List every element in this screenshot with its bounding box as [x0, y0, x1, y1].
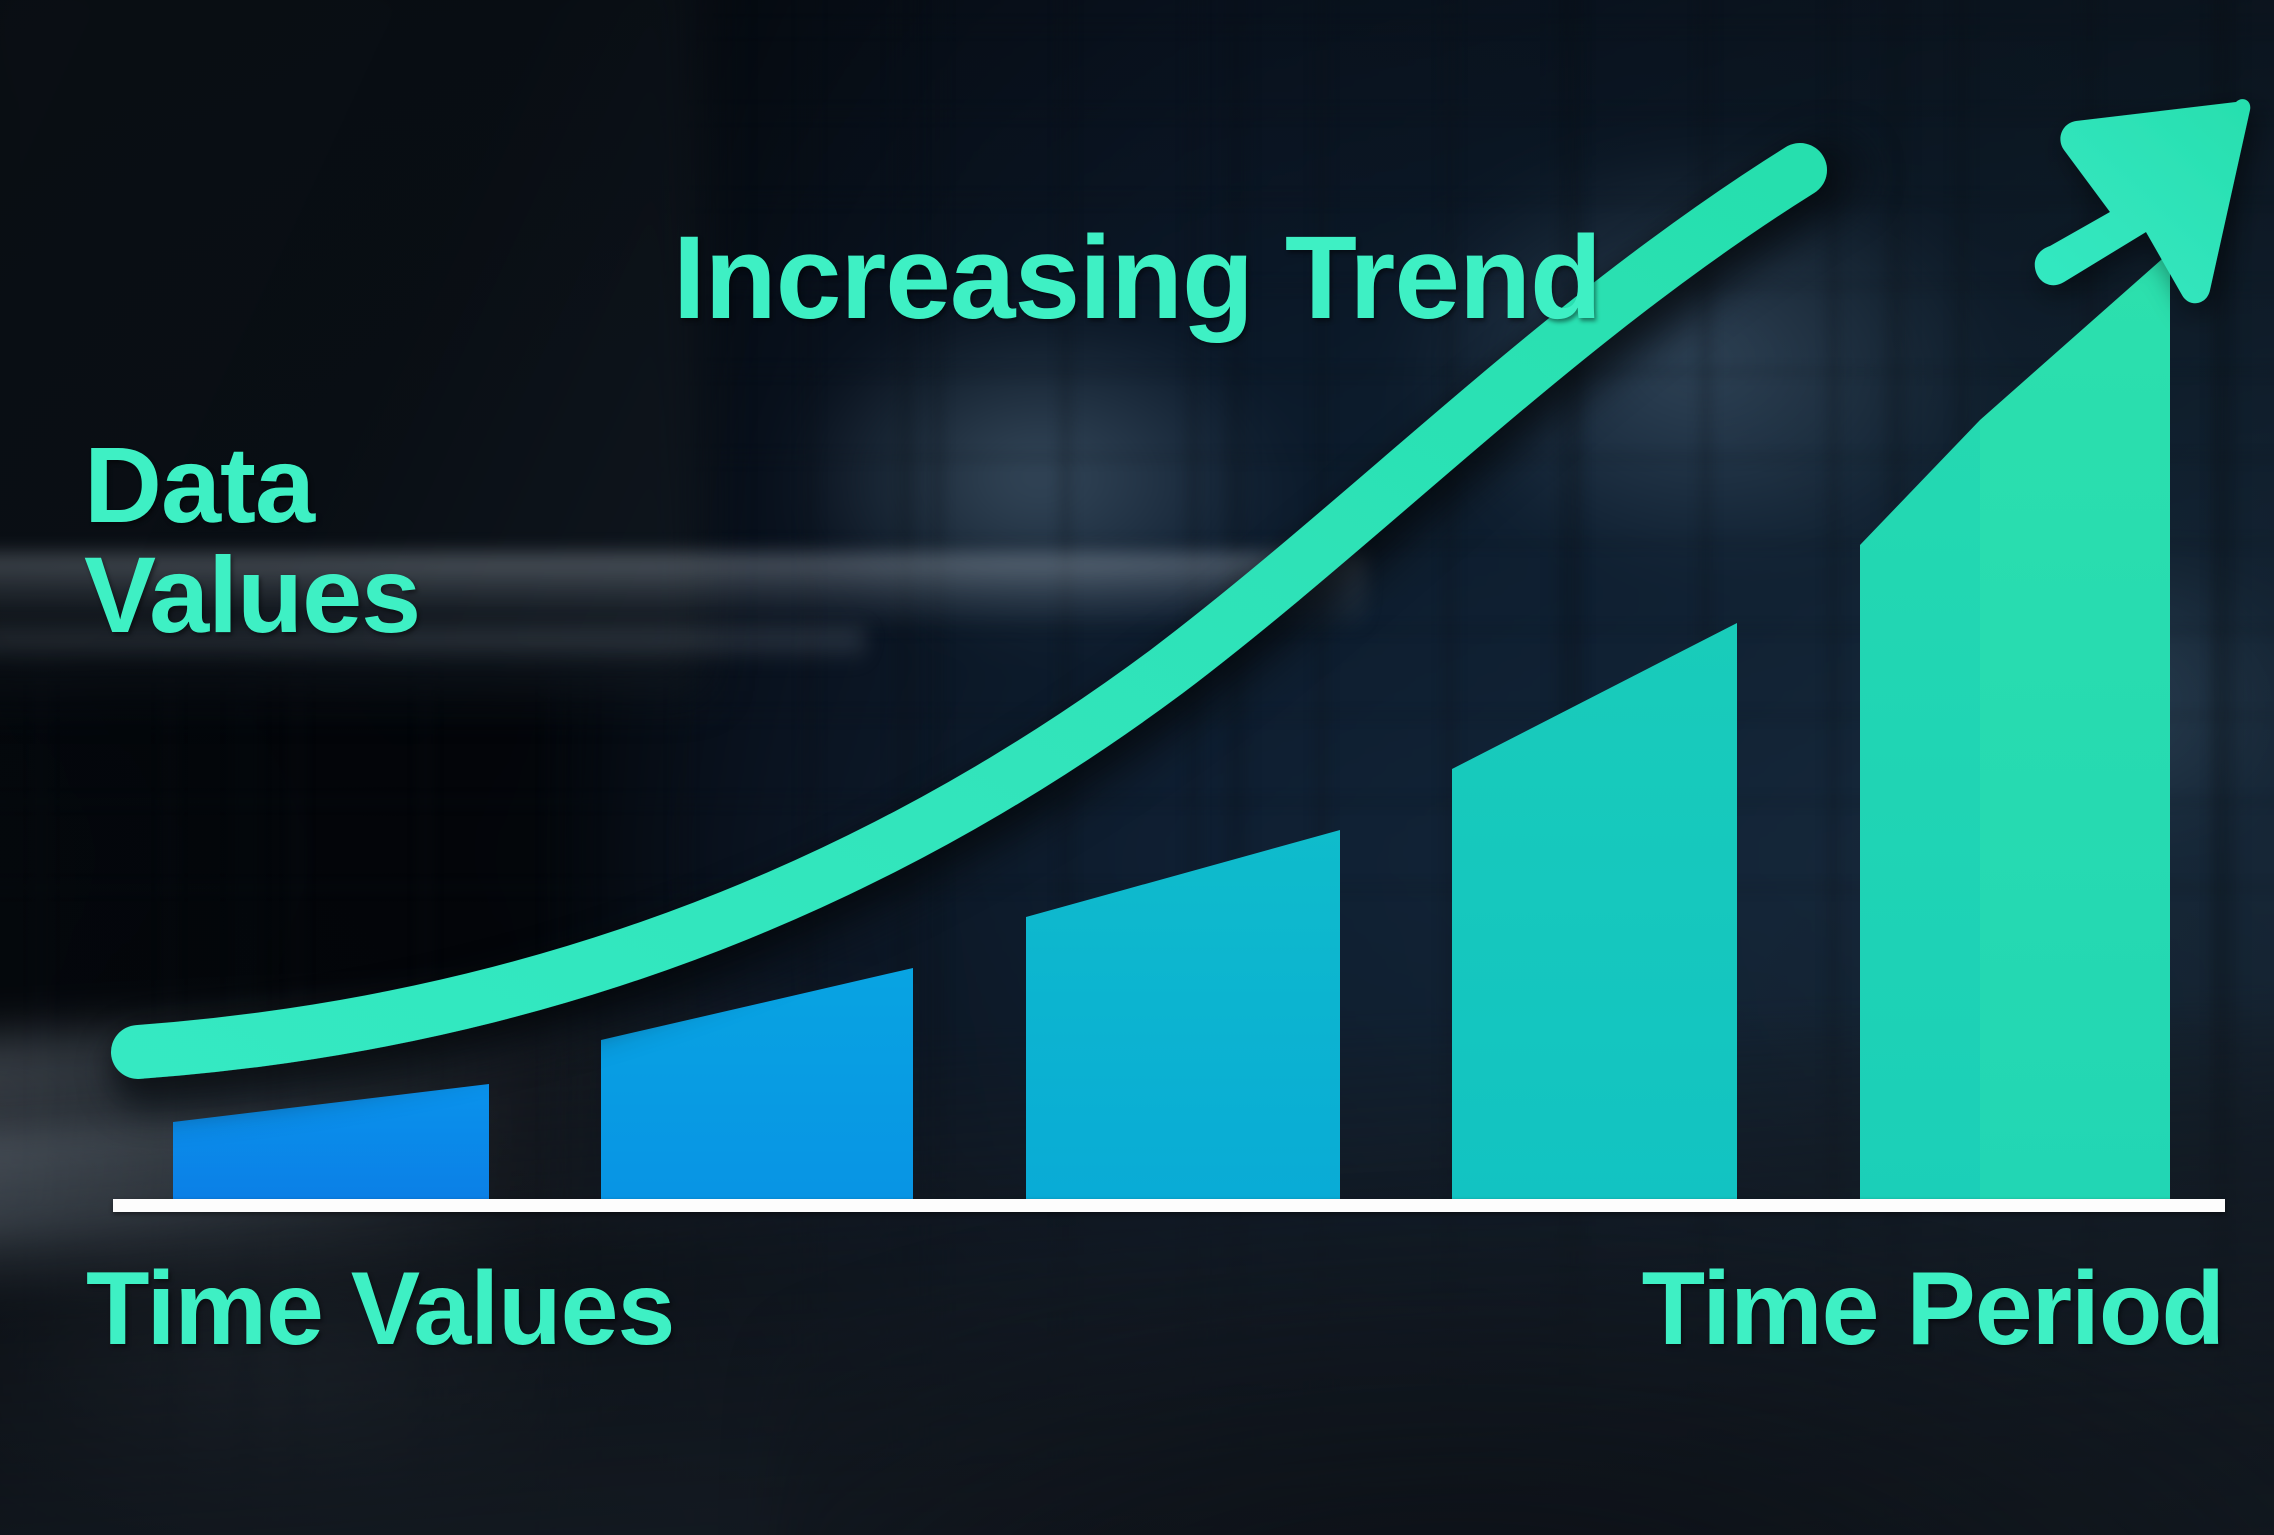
- bar-6: [1980, 252, 2170, 1201]
- x-axis-label-right: Time Period: [1642, 1256, 2224, 1362]
- infographic-canvas: Increasing Trend Data Values Time Values…: [0, 0, 2274, 1535]
- x-axis-line: [113, 1199, 2225, 1212]
- x-axis-label-left: Time Values: [86, 1256, 674, 1362]
- bar-3: [1026, 830, 1340, 1201]
- arrowhead-icon: [2035, 99, 2250, 303]
- chart-title: Increasing Trend: [673, 218, 1601, 338]
- y-axis-label: Data Values: [84, 430, 420, 650]
- bar-4: [1452, 623, 1737, 1201]
- bar-5: [1860, 420, 1980, 1201]
